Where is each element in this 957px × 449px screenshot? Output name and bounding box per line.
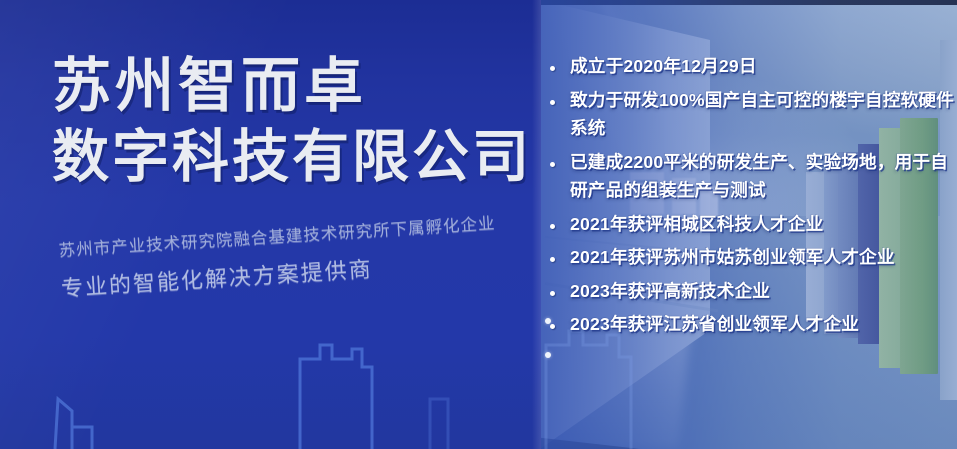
brand-title-line-1: 苏州智而卓 [52, 56, 532, 116]
list-item-label: 致力于研发100%国产自主可控的楼宇自控软硬件系统 [570, 86, 955, 143]
list-item-label: 2021年获评相城区科技人才企业 [570, 210, 823, 239]
bullet-dot-icon [550, 291, 555, 296]
company-facts-list: 成立于2020年12月29日 致力于研发100%国产自主可控的楼宇自控软硬件系统… [545, 52, 955, 344]
list-item: 已建成2200平米的研发生产、实验场地，用于自研产品的组装生产与测试 [545, 148, 955, 205]
list-item: 2023年获评高新技术企业 [545, 277, 955, 306]
list-item: 成立于2020年12月29日 [545, 52, 955, 81]
bullet-dot-icon [550, 66, 555, 71]
brand-title-line-2: 数字科技有限公司 [52, 128, 532, 186]
bullet-dot-icon [550, 224, 555, 229]
list-item: 2023年获评江苏省创业领军人才企业 [545, 310, 955, 339]
list-item: 2021年获评苏州市姑苏创业领军人才企业 [545, 243, 955, 272]
list-item: 2021年获评相城区科技人才企业 [545, 210, 955, 239]
slide-root: 苏州智而卓 数字科技有限公司 苏州市产业技术研究院融合基建技术研究所下属孵化企业… [0, 0, 957, 449]
brand-title-block: 苏州智而卓 数字科技有限公司 [52, 56, 532, 186]
bullet-dot-icon [550, 324, 555, 329]
bullet-dot-icon [550, 100, 555, 105]
list-item-label: 2023年获评江苏省创业领军人才企业 [570, 310, 859, 339]
list-item-label: 2021年获评苏州市姑苏创业领军人才企业 [570, 243, 895, 272]
list-item: 致力于研发100%国产自主可控的楼宇自控软硬件系统 [545, 86, 955, 143]
list-item-label: 已建成2200平米的研发生产、实验场地，用于自研产品的组装生产与测试 [570, 148, 955, 205]
list-item-label: 成立于2020年12月29日 [570, 52, 757, 81]
bullet-dot-icon [550, 162, 555, 167]
list-item-label: 2023年获评高新技术企业 [570, 277, 770, 306]
bullet-dot-icon [550, 257, 555, 262]
wall-light-dot-2 [545, 352, 551, 358]
